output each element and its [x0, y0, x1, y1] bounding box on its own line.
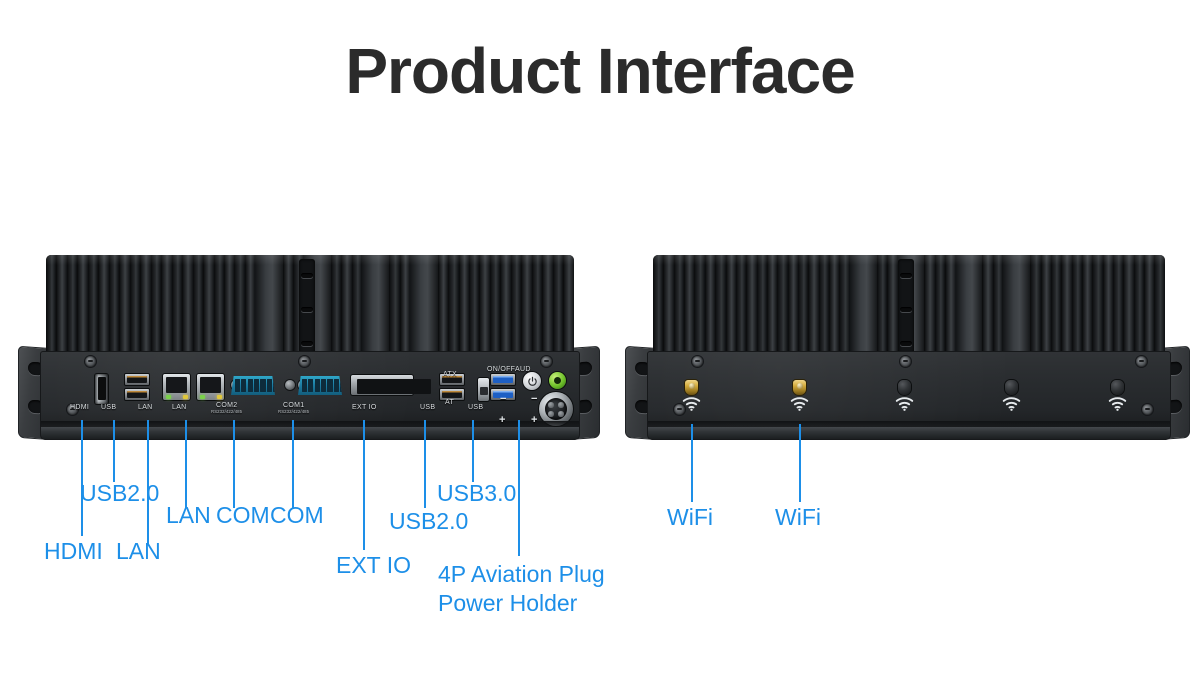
heatsink-fin [887, 255, 897, 355]
lan-link-led [200, 395, 205, 399]
heatsink-fin [663, 255, 673, 355]
chassis-base-lip [647, 427, 1171, 440]
heatsink-fin [1144, 255, 1154, 355]
heatsink-fin [736, 255, 746, 355]
heatsink-fin [1113, 255, 1123, 355]
callout-aviation-label: 4P Aviation PlugPower Holder [438, 560, 605, 619]
faceplate-screw [1142, 404, 1153, 415]
lan-activity-led [183, 395, 188, 399]
callout-wifi-a-label: WiFi [667, 504, 713, 532]
heatsink-fin [511, 255, 521, 355]
silkscreen-label: ON/OFF [487, 366, 515, 373]
silkscreen-sublabel: RS232/422/485 [278, 409, 309, 414]
heatsink-fin [563, 255, 573, 355]
db9-pins [235, 379, 291, 392]
heatsink-fin [788, 255, 798, 355]
heatsink-fin [119, 255, 129, 355]
heatsink-mount-hole [900, 273, 912, 278]
db9-pins [302, 379, 358, 392]
heatsink-fin [410, 255, 437, 355]
heatsink-fin [521, 255, 531, 355]
heatsink-fin [46, 255, 56, 355]
heatsink-fin [1123, 255, 1133, 355]
heatsink-fin [945, 255, 955, 355]
ext-io-port[interactable] [351, 375, 413, 395]
heatsink-mount-hole [301, 273, 313, 278]
callout-lan-b-line [185, 420, 187, 508]
polarity-mark: + [499, 414, 506, 426]
heatsink-fin [726, 255, 736, 355]
heatsink-fin [877, 255, 887, 355]
heatsink-fin [956, 255, 983, 355]
heatsink-fin [684, 255, 694, 355]
silkscreen-label: EXT IO [352, 404, 377, 411]
wifi-icon [1002, 397, 1021, 416]
antenna-hole-plug [1005, 380, 1018, 395]
aviation-pin [558, 402, 564, 408]
heatsink-fin [935, 255, 945, 355]
heatsink-fin [1134, 255, 1144, 355]
power-button[interactable] [523, 372, 541, 390]
ext-io-pins [359, 381, 429, 385]
heatsink-fin [715, 255, 725, 355]
wifi-icon [790, 397, 809, 416]
heatsink-fin [341, 255, 351, 355]
heatsink-fin [553, 255, 563, 355]
heatsink-fin [1154, 255, 1164, 355]
heatsink-fin [438, 255, 448, 355]
heatsink-fin [479, 255, 489, 355]
heatsink-fin [98, 255, 108, 355]
heatsink-fin [705, 255, 715, 355]
heatsink-fin [130, 255, 140, 355]
heatsink-fin [777, 255, 787, 355]
heatsink-fin [829, 255, 839, 355]
heatsink-fin [1082, 255, 1092, 355]
aviation-pin [558, 411, 564, 417]
heatsink-fin [1041, 255, 1051, 355]
heatsink-fin [1061, 255, 1071, 355]
heatsink-fin [67, 255, 77, 355]
heatsink-fin [542, 255, 552, 355]
heatsink-fin [653, 255, 663, 355]
db9-serial-port[interactable] [231, 376, 275, 395]
heatsink-mount-hole [301, 341, 313, 346]
faceplate-screw [1136, 356, 1147, 367]
silkscreen-label: USB [468, 404, 483, 411]
heatsink-fin [88, 255, 98, 355]
heatsink-fin [500, 255, 510, 355]
heatsink-fin [140, 255, 150, 355]
silkscreen-label: ATX [443, 371, 457, 378]
wifi-icon [682, 397, 701, 416]
com2-port-group[interactable] [231, 376, 295, 396]
ext-io-port-group[interactable] [351, 375, 437, 397]
callout-aviation-line [518, 420, 520, 556]
callout-usb30-label: USB3.0 [437, 480, 516, 508]
faceplate-screw [299, 356, 310, 367]
heatsink-fin [400, 255, 410, 355]
heatsink-fin [224, 255, 234, 355]
antenna-hole-plug [898, 380, 911, 395]
silkscreen-label: LAN [172, 404, 187, 411]
silkscreen-label: USB [420, 404, 435, 411]
heatsink-fin [1103, 255, 1113, 355]
aviation-pin [548, 402, 554, 408]
heatsink-fin [203, 255, 213, 355]
heatsink-fin [172, 255, 182, 355]
silkscreen-sublabel: RS232/422/485 [211, 409, 242, 414]
power-icon [527, 376, 538, 387]
heatsink-fin [924, 255, 934, 355]
heatsink-fin [798, 255, 808, 355]
silkscreen-label: HDMI [70, 404, 89, 411]
heatsink-fin [151, 255, 161, 355]
wifi-icon [1108, 397, 1127, 416]
heatsink-fin [1030, 255, 1040, 355]
heatsink-fin [839, 255, 849, 355]
callout-ext-io-label: EXT IO [336, 552, 411, 580]
lan-link-led [166, 395, 171, 399]
lan-port[interactable] [197, 374, 224, 400]
callout-com-2-line [233, 420, 235, 508]
callout-com-2-label: COM [216, 502, 270, 530]
heatsink-fin [161, 255, 171, 355]
callout-usb20-b-label: USB2.0 [389, 508, 468, 536]
lan-activity-led [217, 395, 222, 399]
heatsink-fin [1072, 255, 1082, 355]
heatsink-fin [255, 255, 282, 355]
heatsink-fin [993, 255, 1003, 355]
heatsink-fin [193, 255, 203, 355]
silkscreen-label: LAN [138, 404, 153, 411]
heatsink-fin [448, 255, 458, 355]
product-interface-page: Product Interface [0, 0, 1200, 700]
heatsink-fin [1003, 255, 1030, 355]
heatsink-fin [819, 255, 829, 355]
faceplate-screw [541, 356, 552, 367]
silkscreen-label: AT [445, 399, 454, 406]
heatsink-fin [532, 255, 542, 355]
callout-usb20-a-line [113, 420, 115, 482]
heatsink-fin [757, 255, 767, 355]
heatsink-fin [109, 255, 119, 355]
silkscreen-label: USB [101, 404, 116, 411]
heatsink-fin [469, 255, 479, 355]
sma-antenna-connector[interactable] [685, 380, 698, 395]
callout-usb20-b-line [424, 420, 426, 508]
callout-com-1-label: COM [270, 502, 324, 530]
heatsink-fin [352, 255, 362, 355]
faceplate-screw [692, 356, 703, 367]
wifi-icon [895, 397, 914, 416]
callout-lan-b-label: LAN [166, 502, 211, 530]
heatsink-fin [77, 255, 87, 355]
polarity-mark: + [531, 414, 538, 426]
usb2-port[interactable] [125, 389, 149, 400]
heatsink-fin [459, 255, 469, 355]
heatsink-mount-hole [900, 307, 912, 312]
faceplate-screw [900, 356, 911, 367]
faceplate-screw [85, 356, 96, 367]
polarity-mark: − [531, 393, 538, 405]
usb2-port[interactable] [125, 374, 149, 385]
device-front-view [18, 255, 600, 445]
heatsink-fin [1092, 255, 1102, 355]
callout-lan-a-label: LAN [116, 538, 161, 566]
callout-ext-io-line [363, 420, 365, 550]
heatsink-mount-hole [301, 307, 313, 312]
heatsink-fin [182, 255, 192, 355]
heatsink-fin [1051, 255, 1061, 355]
db9-serial-port[interactable] [298, 376, 342, 395]
chassis-base-lip [40, 427, 580, 440]
heatsink-fin [767, 255, 777, 355]
rear-faceplate [647, 351, 1171, 431]
heatsink-fin [362, 255, 389, 355]
heatsink-fin [234, 255, 244, 355]
jackscrew-icon [285, 380, 295, 390]
heatsink-fins [653, 255, 1165, 355]
heatsink-fin [694, 255, 704, 355]
heatsink-fin [674, 255, 684, 355]
lan-port[interactable] [163, 374, 190, 400]
silkscreen-label: COM1 [283, 402, 304, 409]
heatsink-fin [850, 255, 877, 355]
sma-antenna-connector[interactable] [793, 380, 806, 395]
page-title: Product Interface [0, 38, 1200, 105]
callout-hdmi-label: HDMI [44, 538, 103, 566]
aviation-inner [545, 398, 567, 420]
callout-com-1-line [292, 420, 294, 508]
callout-wifi-b-label: WiFi [775, 504, 821, 532]
polarity-mark: − [500, 393, 507, 405]
atx-at-switch[interactable] [478, 378, 489, 401]
heatsink-fin [490, 255, 500, 355]
aviation-pin [548, 411, 554, 417]
silkscreen-label: COM2 [216, 402, 237, 409]
usb3-port[interactable] [491, 374, 515, 385]
heatsink-fin [746, 255, 756, 355]
heatsink-fin [56, 255, 66, 355]
heatsink-fin [214, 255, 224, 355]
heatsink-fin [982, 255, 992, 355]
device-rear-view [625, 255, 1190, 445]
aviation-power-connector[interactable] [539, 392, 573, 426]
callout-wifi-b-line [799, 424, 801, 502]
heatsink-fin [331, 255, 341, 355]
hdmi-port[interactable] [95, 374, 108, 404]
heatsink-fin [389, 255, 399, 355]
callout-lan-a-line [147, 420, 149, 545]
heatsink-fin [245, 255, 255, 355]
callout-hdmi-line [81, 420, 83, 536]
callout-usb30-line [472, 420, 474, 482]
heatsink-mount-hole [900, 341, 912, 346]
heatsink-fins [46, 255, 574, 355]
callout-wifi-a-line [691, 424, 693, 502]
heatsink-fin [283, 255, 293, 355]
audio-jack[interactable] [549, 372, 566, 389]
antenna-hole-plug [1111, 380, 1124, 395]
heatsink-fin [808, 255, 818, 355]
silkscreen-label: AUD [515, 366, 531, 373]
